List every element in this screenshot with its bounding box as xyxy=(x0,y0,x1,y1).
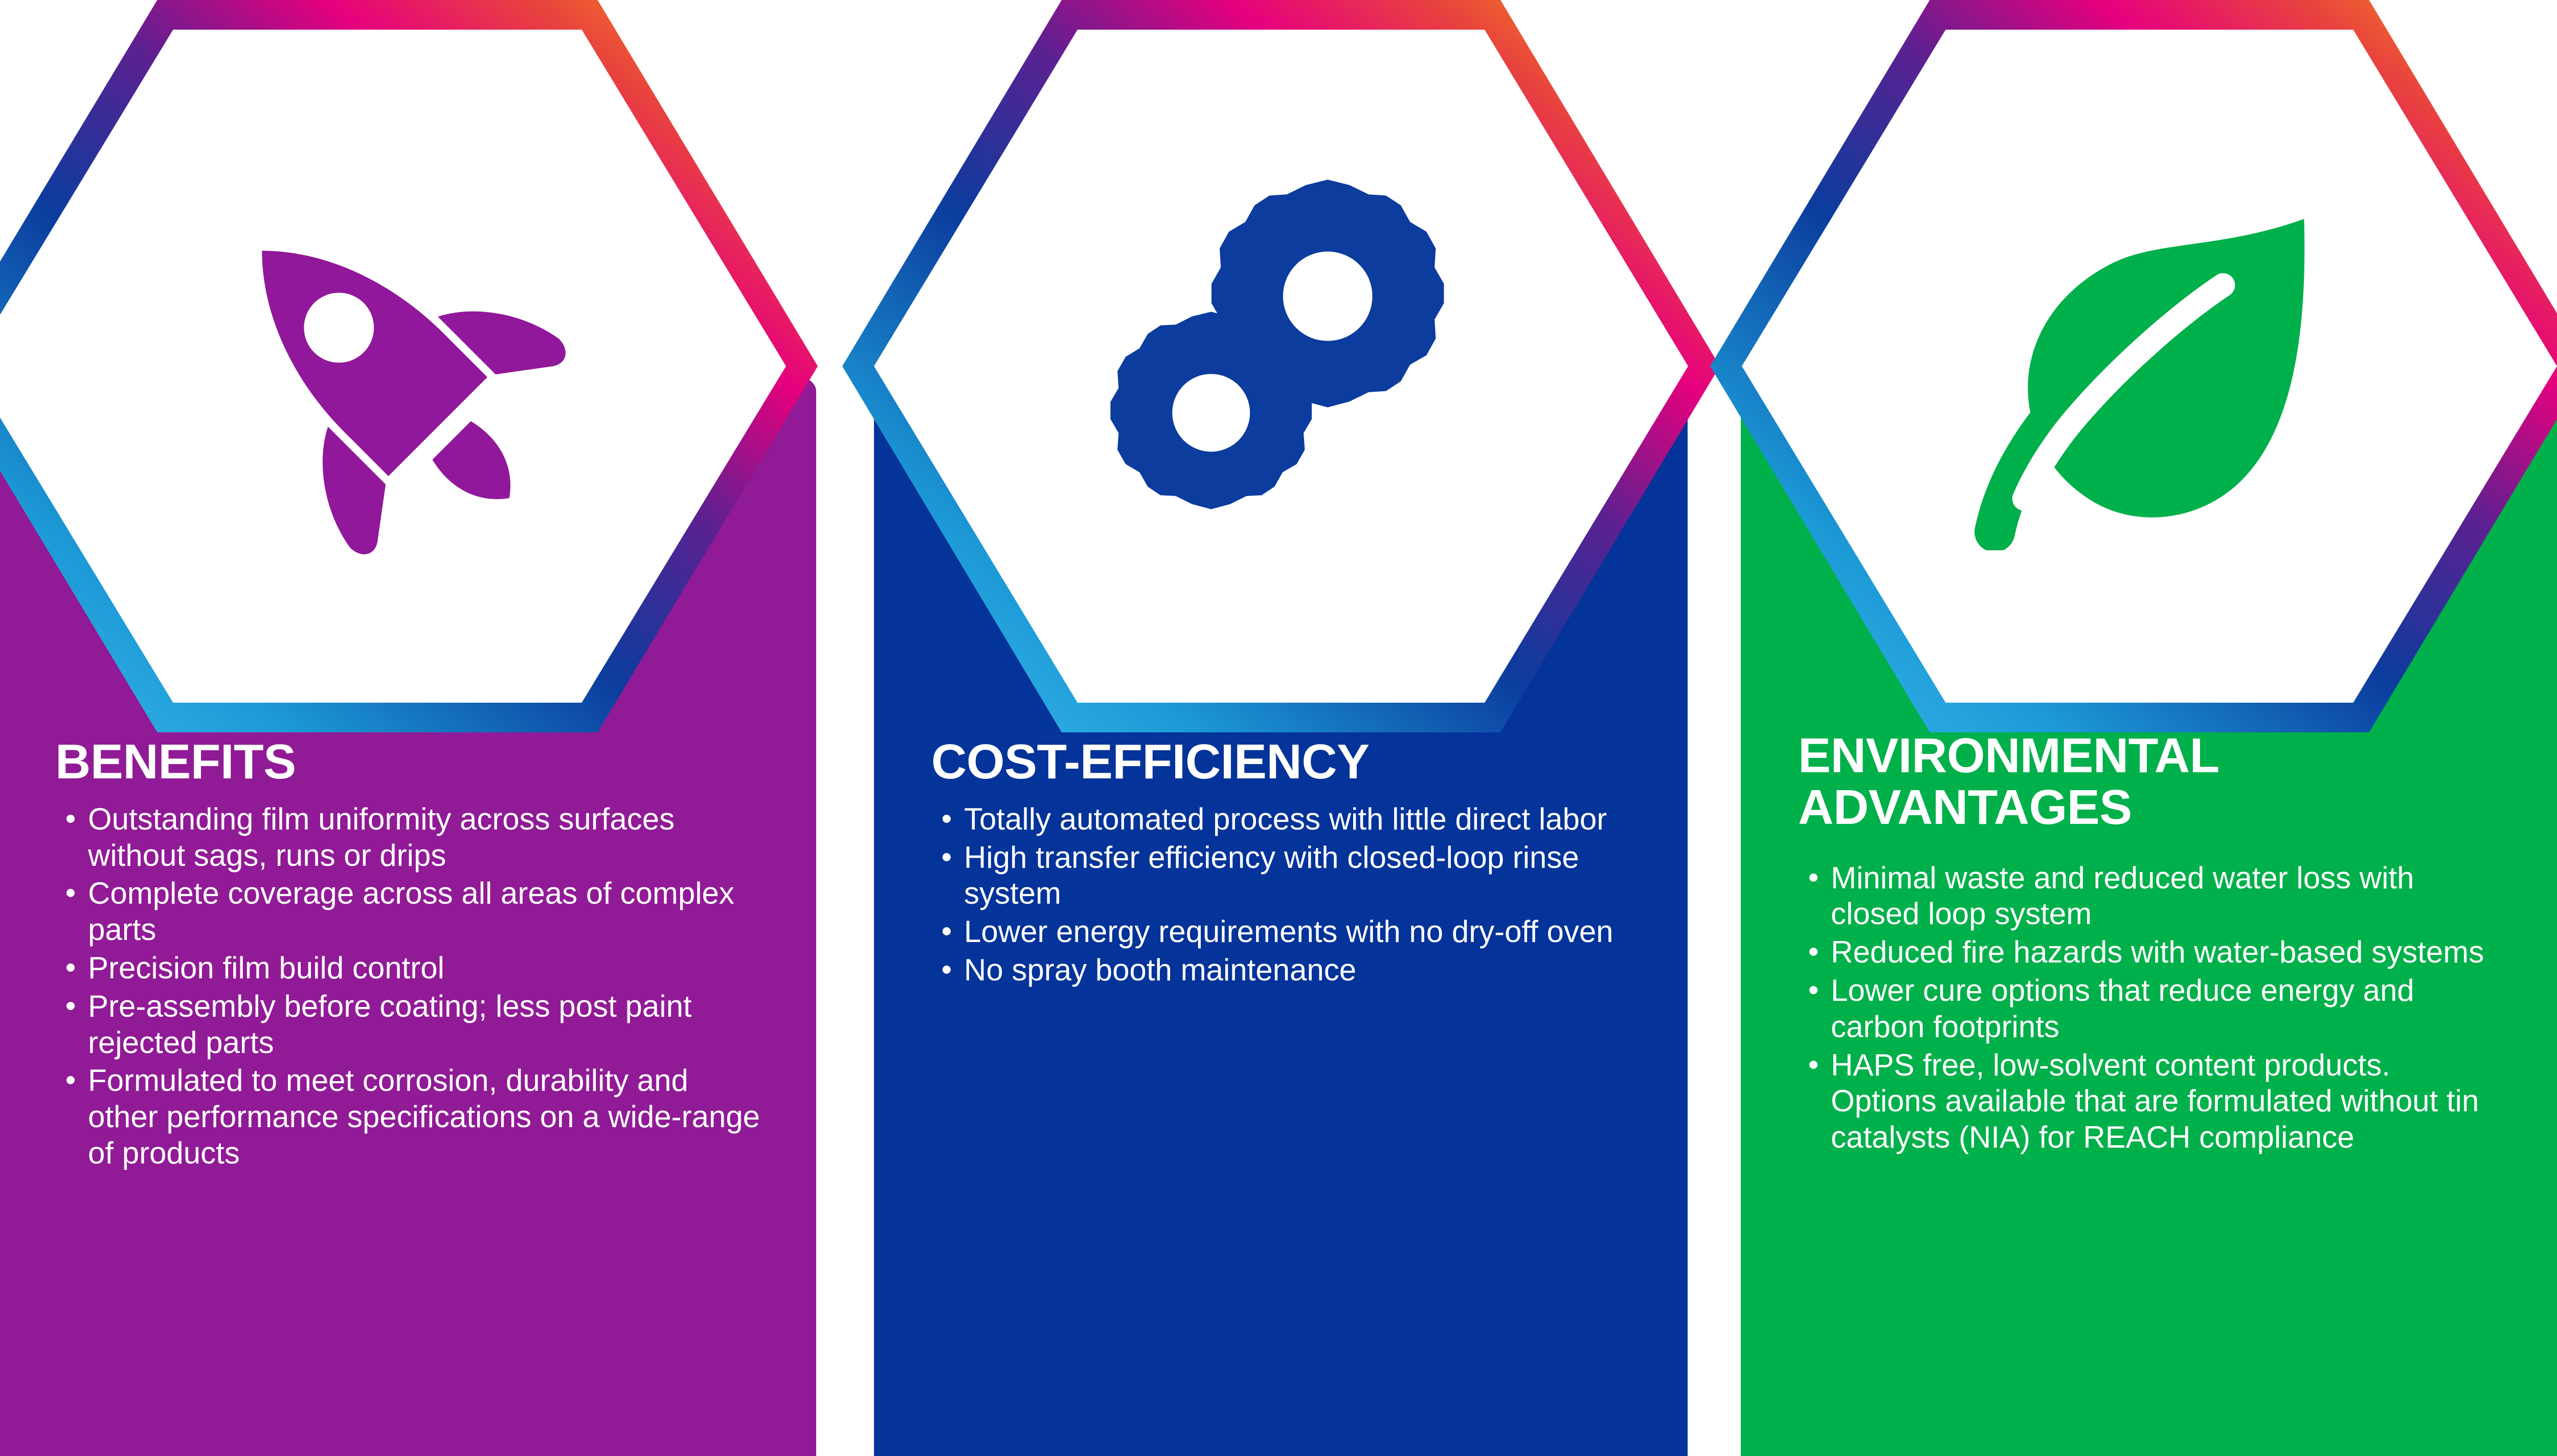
panel-cost-content: COST-EFFICIENCY Totally automated proces… xyxy=(874,736,1688,991)
panel-environmental-title: ENVIRONMENTAL ADVANTAGES xyxy=(1798,730,2503,834)
panel-environmental-content: ENVIRONMENTAL ADVANTAGES Minimal waste a… xyxy=(1741,730,2557,1158)
panel-cost-title: COST-EFFICIENCY xyxy=(931,736,1632,788)
list-item: No spray booth maintenance xyxy=(931,952,1632,989)
panel-benefits: BENEFITS Outstanding film uniformity acr… xyxy=(0,0,816,1456)
list-item: Complete coverage across all areas of co… xyxy=(55,876,761,948)
panel-environmental-advantages: ENVIRONMENTAL ADVANTAGES Minimal waste a… xyxy=(1741,0,2557,1456)
panel-benefits-bullet-list: Outstanding film uniformity across surfa… xyxy=(55,801,761,1172)
panel-cost-efficiency: COST-EFFICIENCY Totally automated proces… xyxy=(874,0,1688,1456)
list-item: Lower energy requirements with no dry-of… xyxy=(931,914,1632,950)
list-item: Lower cure options that reduce energy an… xyxy=(1798,973,2503,1045)
list-item: Totally automated process with little di… xyxy=(931,801,1632,838)
list-item: Formulated to meet corrosion, durability… xyxy=(55,1063,761,1171)
panel-benefits-title: BENEFITS xyxy=(55,736,761,788)
list-item: Reduced fire hazards with water-based sy… xyxy=(1798,934,2503,971)
list-item: Minimal waste and reduced water loss wit… xyxy=(1798,860,2503,933)
panel-benefits-hexagon xyxy=(0,0,818,732)
panel-environmental-hexagon xyxy=(1710,0,2557,732)
list-item: Pre-assembly before coating; less post p… xyxy=(55,989,761,1061)
panel-cost-bullet-list: Totally automated process with little di… xyxy=(931,801,1632,989)
list-item: HAPS free, low-solvent content products.… xyxy=(1798,1047,2503,1156)
list-item: Precision film build control xyxy=(55,950,761,987)
infographic-board: BENEFITS Outstanding film uniformity acr… xyxy=(0,0,2557,1456)
list-item: High transfer efficiency with closed-loo… xyxy=(931,840,1632,912)
list-item: Outstanding film uniformity across surfa… xyxy=(55,801,761,874)
panel-environmental-bullet-list: Minimal waste and reduced water loss wit… xyxy=(1798,860,2503,1156)
panel-benefits-content: BENEFITS Outstanding film uniformity acr… xyxy=(0,736,816,1174)
panel-cost-hexagon xyxy=(842,0,1720,732)
